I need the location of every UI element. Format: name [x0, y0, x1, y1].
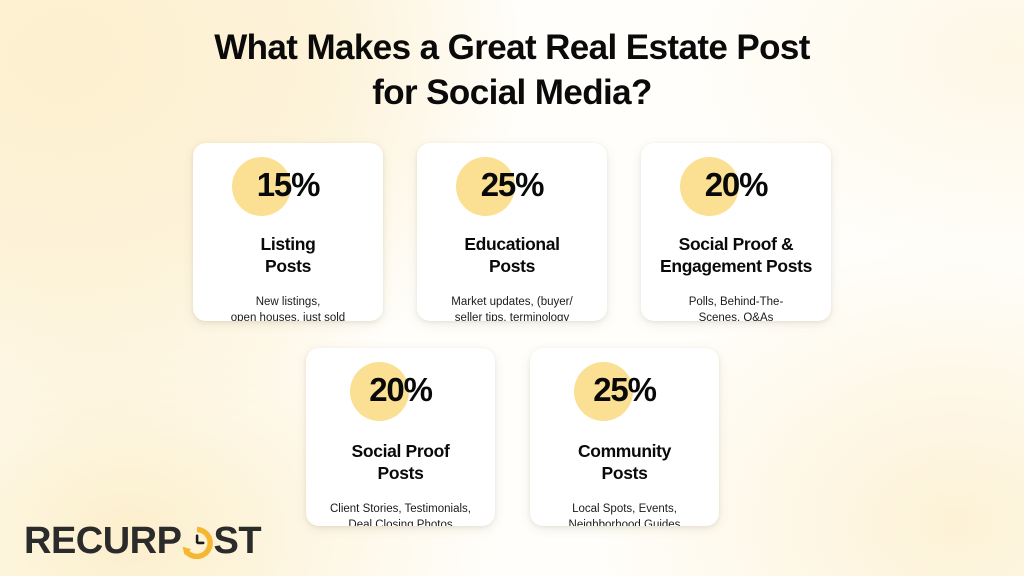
logo-text-after: ST	[213, 522, 261, 560]
logo-text-before: RECURP	[24, 522, 181, 560]
card-description-line-2: Deal Closing Photos	[348, 519, 452, 526]
card-title-line-2: Posts	[378, 463, 424, 483]
card-description-line-1: Local Spots, Events,	[572, 503, 677, 515]
card-description-line-2: seller tips, terminology	[455, 312, 569, 321]
card-title: Social Proof Posts	[306, 440, 495, 484]
card-description-line-1: Polls, Behind-The-	[689, 296, 784, 308]
card-title: Community Posts	[530, 440, 719, 484]
card-title-line-2: Posts	[265, 256, 311, 276]
page-title-line-1: What Makes a Great Real Estate Post	[0, 26, 1024, 71]
card-description-line-1: New listings,	[256, 296, 321, 308]
card-title-line-1: Community	[578, 441, 671, 461]
percent-value: 15%	[193, 166, 383, 204]
percent-block: 25%	[530, 362, 719, 424]
stat-card-social-proof-engagement[interactable]: 20% Social Proof & Engagement Posts Poll…	[641, 143, 831, 321]
page-title-line-2: for Social Media?	[0, 71, 1024, 116]
card-title-line-1: Social Proof	[352, 441, 450, 461]
card-description: New listings, open houses, just sold	[193, 294, 383, 321]
percent-value: 20%	[641, 166, 831, 204]
stat-card-social-proof[interactable]: 20% Social Proof Posts Client Stories, T…	[306, 348, 495, 526]
percent-value: 20%	[306, 371, 495, 409]
card-title-line-2: Engagement Posts	[660, 256, 812, 276]
card-description: Market updates, (buyer/ seller tips, ter…	[417, 294, 607, 321]
percent-block: 20%	[306, 362, 495, 424]
stat-card-educational[interactable]: 25% Educational Posts Market updates, (b…	[417, 143, 607, 321]
card-description-line-2: Neighborhood Guides	[569, 519, 681, 526]
card-title-line-1: Social Proof &	[679, 234, 794, 254]
percent-value: 25%	[417, 166, 607, 204]
percent-block: 20%	[641, 157, 831, 219]
card-title-line-2: Posts	[602, 463, 648, 483]
card-description: Local Spots, Events, Neighborhood Guides	[530, 501, 719, 526]
card-description-line-1: Market updates, (buyer/	[451, 296, 572, 308]
card-description: Client Stories, Testimonials, Deal Closi…	[306, 501, 495, 526]
card-description-line-1: Client Stories, Testimonials,	[330, 503, 471, 515]
percent-value: 25%	[530, 371, 719, 409]
stat-card-community[interactable]: 25% Community Posts Local Spots, Events,…	[530, 348, 719, 526]
card-title-line-1: Educational	[464, 234, 559, 254]
recurpost-logo[interactable]: RECURP ST	[24, 522, 261, 560]
page-title: What Makes a Great Real Estate Post for …	[0, 26, 1024, 116]
infographic-stage: What Makes a Great Real Estate Post for …	[0, 0, 1024, 576]
card-description-line-2: open houses, just sold	[231, 312, 345, 321]
clock-refresh-icon	[180, 526, 214, 560]
percent-block: 25%	[417, 157, 607, 219]
card-title: Listing Posts	[193, 233, 383, 277]
card-description: Polls, Behind-The- Scenes, Q&As	[641, 294, 831, 321]
card-title: Social Proof & Engagement Posts	[641, 233, 831, 277]
stat-card-listing[interactable]: 15% Listing Posts New listings, open hou…	[193, 143, 383, 321]
card-description-line-2: Scenes, Q&As	[699, 312, 774, 321]
percent-block: 15%	[193, 157, 383, 219]
card-title-line-1: Listing	[261, 234, 316, 254]
card-title: Educational Posts	[417, 233, 607, 277]
card-title-line-2: Posts	[489, 256, 535, 276]
